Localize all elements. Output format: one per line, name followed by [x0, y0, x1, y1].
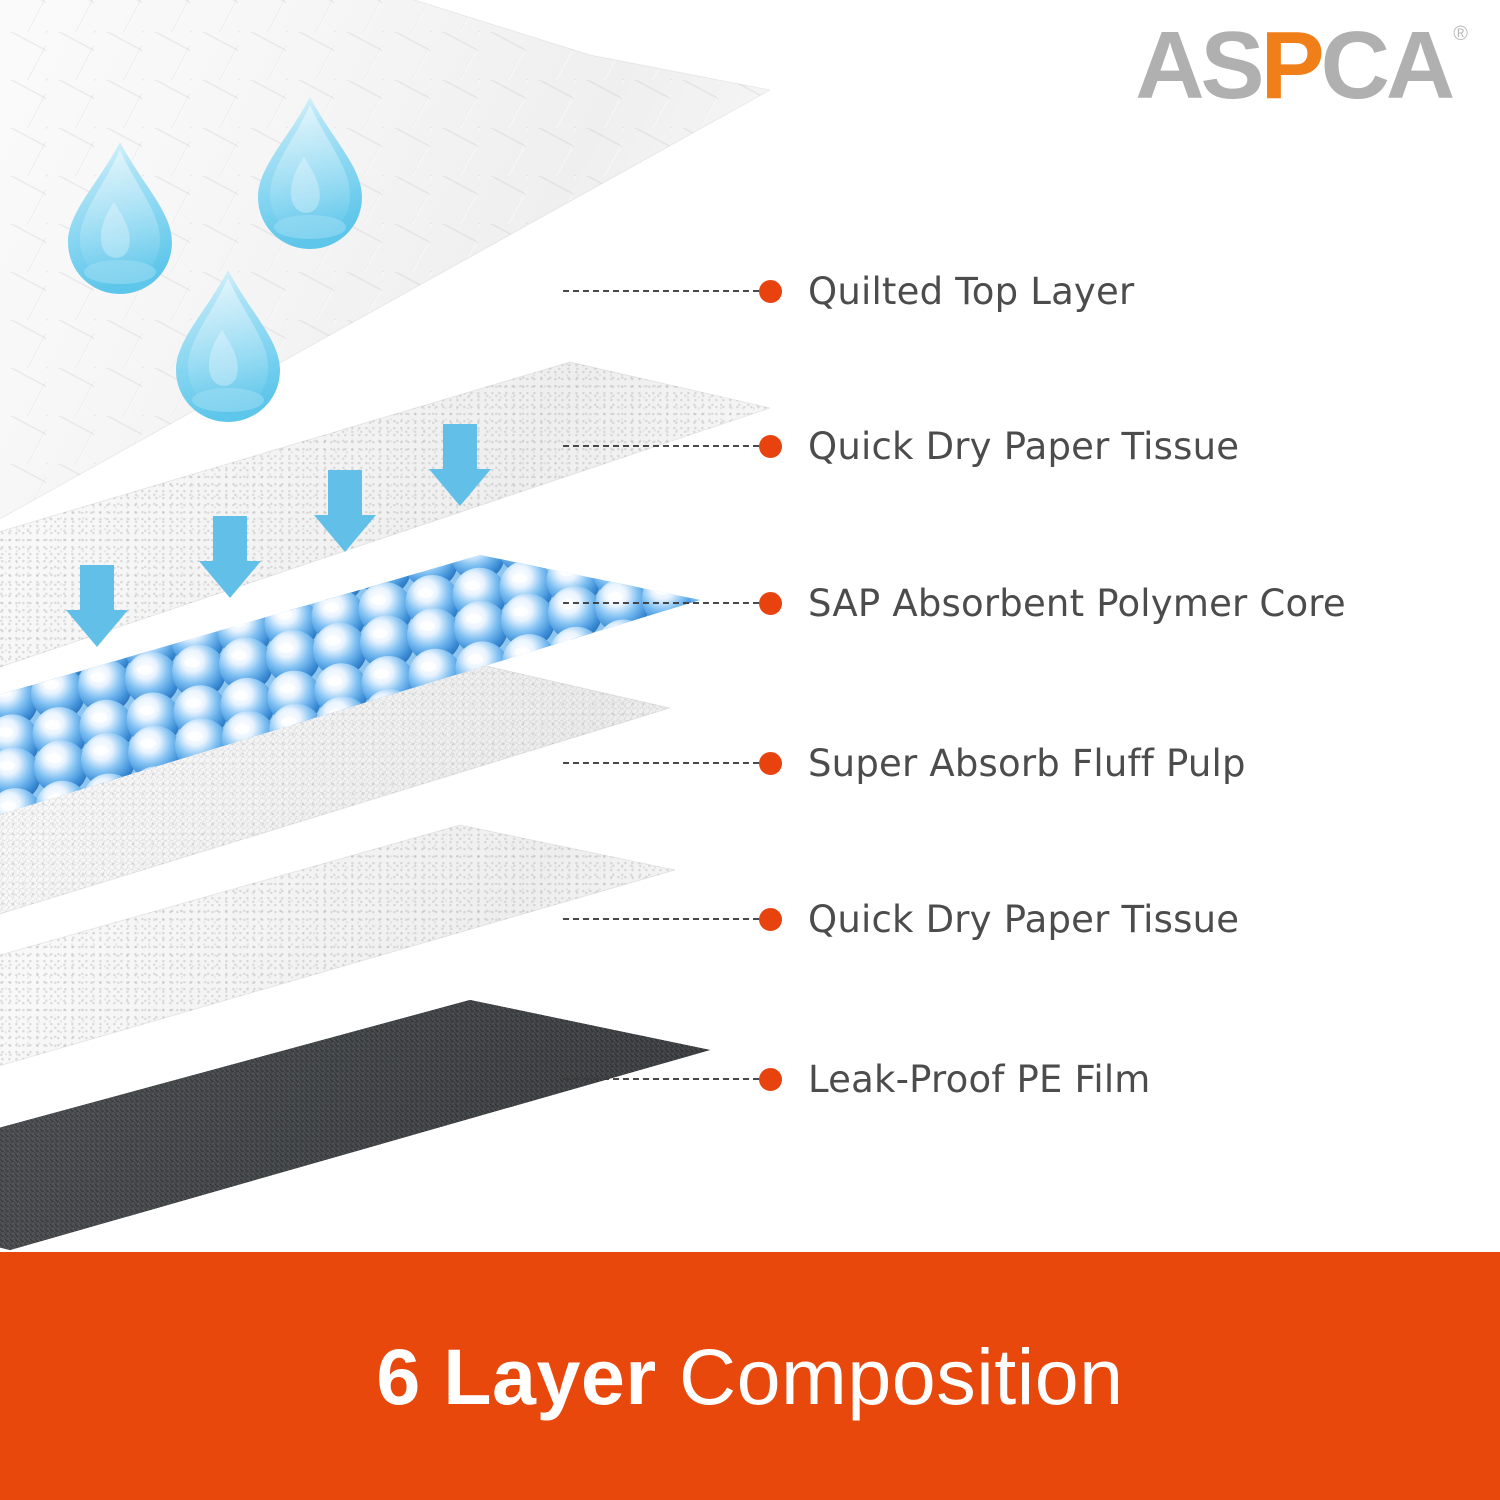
leader-line	[563, 445, 759, 447]
leader-line	[563, 1078, 759, 1080]
callout-label: SAP Absorbent Polymer Core	[808, 582, 1346, 625]
callout-quick-dry-paper-tissue-1: Quick Dry Paper Tissue	[563, 426, 1239, 466]
callout-dot-icon	[759, 435, 782, 458]
logo-text-as: AS	[1135, 18, 1260, 114]
logo-text-ca: CA	[1321, 18, 1452, 114]
bottom-banner: 6 Layer Composition	[0, 1252, 1500, 1500]
callout-sap-absorbent-polymer-core: SAP Absorbent Polymer Core	[563, 583, 1346, 623]
callout-label: Leak-Proof PE Film	[808, 1058, 1151, 1101]
callout-quick-dry-paper-tissue-2: Quick Dry Paper Tissue	[563, 899, 1239, 939]
leader-line	[563, 918, 759, 920]
callout-leak-proof-pe-film: Leak-Proof PE Film	[563, 1059, 1151, 1099]
callout-dot-icon	[759, 592, 782, 615]
callout-label: Quick Dry Paper Tissue	[808, 425, 1239, 468]
banner-title: 6 Layer Composition	[376, 1337, 1123, 1416]
aspca-logo: ASPCA®	[1135, 18, 1468, 114]
callout-label: Quick Dry Paper Tissue	[808, 898, 1239, 941]
callout-label: Quilted Top Layer	[808, 270, 1134, 313]
leader-line	[563, 290, 759, 292]
leader-line	[563, 762, 759, 764]
callout-dot-icon	[759, 752, 782, 775]
leader-line	[563, 602, 759, 604]
product-infographic: ASPCA® Quilted Top LayerQuick Dry Paper …	[0, 0, 1500, 1500]
callout-dot-icon	[759, 1068, 782, 1091]
callout-super-absorb-fluff-pulp: Super Absorb Fluff Pulp	[563, 743, 1246, 783]
callout-label: Super Absorb Fluff Pulp	[808, 742, 1246, 785]
banner-title-bold: 6 Layer	[376, 1332, 656, 1421]
banner-title-regular: Composition	[679, 1332, 1124, 1421]
callout-dot-icon	[759, 280, 782, 303]
callout-quilted-top-layer: Quilted Top Layer	[563, 271, 1134, 311]
logo-text-p: P	[1261, 18, 1321, 114]
callout-dot-icon	[759, 908, 782, 931]
registered-trademark-icon: ®	[1453, 24, 1468, 44]
